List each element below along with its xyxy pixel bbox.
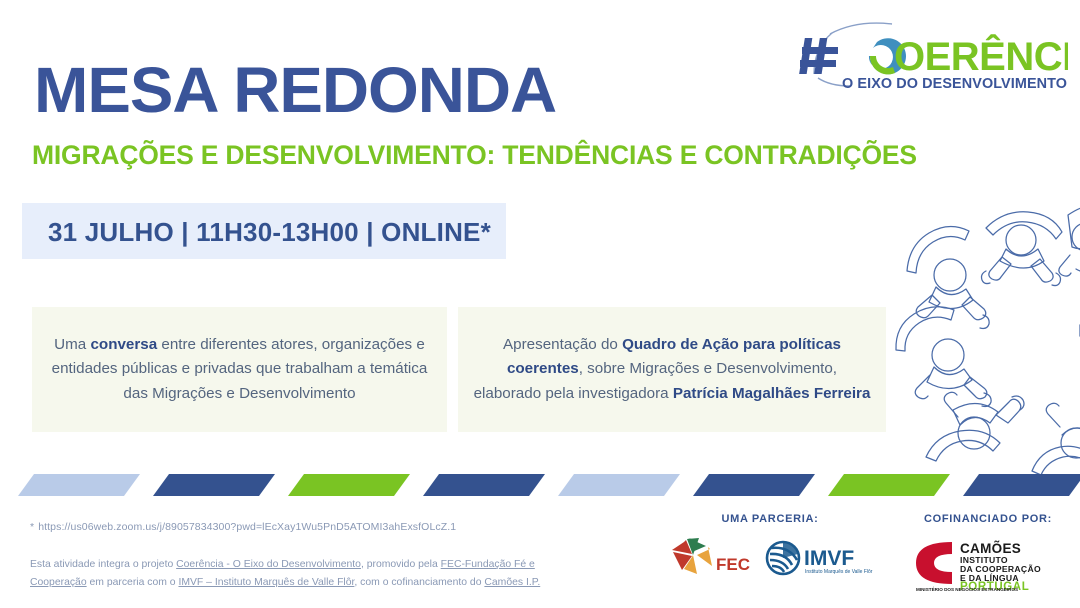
imvf-logo-subtext: Instituto Marquês de Valle Flôr	[805, 569, 873, 575]
camoes-line6: MINISTÉRIO DOS NEGÓCIOS ESTRANGEIROS	[916, 585, 1018, 592]
info-box-apresentacao: Apresentação do Quadro de Ação para polí…	[458, 307, 886, 432]
info-box-conversa-text: Uma conversa entre diferentes atores, or…	[46, 333, 433, 405]
band-chevron	[18, 474, 140, 496]
zoom-link-footnote: *https://us06web.zoom.us/j/89057834300?p…	[30, 521, 456, 533]
info-boxes: Uma conversa entre diferentes atores, or…	[0, 307, 1080, 432]
logo-tagline: O EIXO DO DESENVOLVIMENTO	[842, 76, 1067, 92]
legal-link[interactable]: Coerência - O Eixo do Desenvolvimento	[176, 559, 361, 570]
zoom-link[interactable]: https://us06web.zoom.us/j/89057834300?pw…	[38, 521, 456, 533]
info-box-apresentacao-text: Apresentação do Quadro de Ação para polí…	[472, 333, 872, 405]
legal-link[interactable]: Camões I.P.	[484, 577, 540, 588]
info-box-conversa: Uma conversa entre diferentes atores, or…	[32, 307, 447, 432]
fec-logo: FEC	[666, 536, 752, 580]
fec-logo-text: FEC	[716, 555, 750, 574]
logo-word: OERÊNCIA	[894, 33, 1068, 79]
event-date-text: 31 JULHO | 11H30-13H00 | ONLINE*	[48, 217, 491, 248]
coerencia-logo: OERÊNCIA O EIXO DO DESENVOLVIMENTO	[796, 18, 1068, 92]
camoes-line1: CAMÕES	[960, 541, 1021, 556]
camoes-logo: CAMÕES INSTITUTO DA COOPERAÇÃO E DA LÍNG…	[898, 534, 1078, 592]
imvf-logo: IMVF Instituto Marquês de Valle Flôr	[764, 536, 874, 580]
legal-text: Esta atividade integra o projeto Coerênc…	[30, 556, 560, 592]
decorative-band	[0, 470, 1080, 500]
page-subtitle: MIGRAÇÕES E DESENVOLVIMENTO: TENDÊNCIAS …	[32, 142, 917, 169]
legal-link[interactable]: IMVF – Instituto Marquês de Valle Flôr	[178, 577, 354, 588]
band-chevron	[963, 474, 1080, 496]
event-date-bar: 31 JULHO | 11H30-13H00 | ONLINE*	[22, 203, 506, 259]
imvf-logo-text: IMVF	[804, 547, 854, 570]
asterisk-marker: *	[30, 521, 34, 533]
cofinance-block: COFINANCIADO POR: CAMÕES INSTITUTO DA CO…	[898, 513, 1078, 605]
band-chevron	[153, 474, 275, 496]
partners-block: UMA PARCERIA: FEC	[660, 513, 880, 603]
band-chevron	[693, 474, 815, 496]
partnership-label: UMA PARCERIA:	[660, 513, 880, 525]
band-chevron	[828, 474, 950, 496]
band-chevron	[288, 474, 410, 496]
cofinance-label: COFINANCIADO POR:	[898, 513, 1078, 525]
poster-canvas: OERÊNCIA O EIXO DO DESENVOLVIMENTO MESA …	[0, 0, 1080, 608]
band-chevron	[558, 474, 680, 496]
page-title: MESA REDONDA	[34, 58, 556, 122]
band-chevron	[423, 474, 545, 496]
